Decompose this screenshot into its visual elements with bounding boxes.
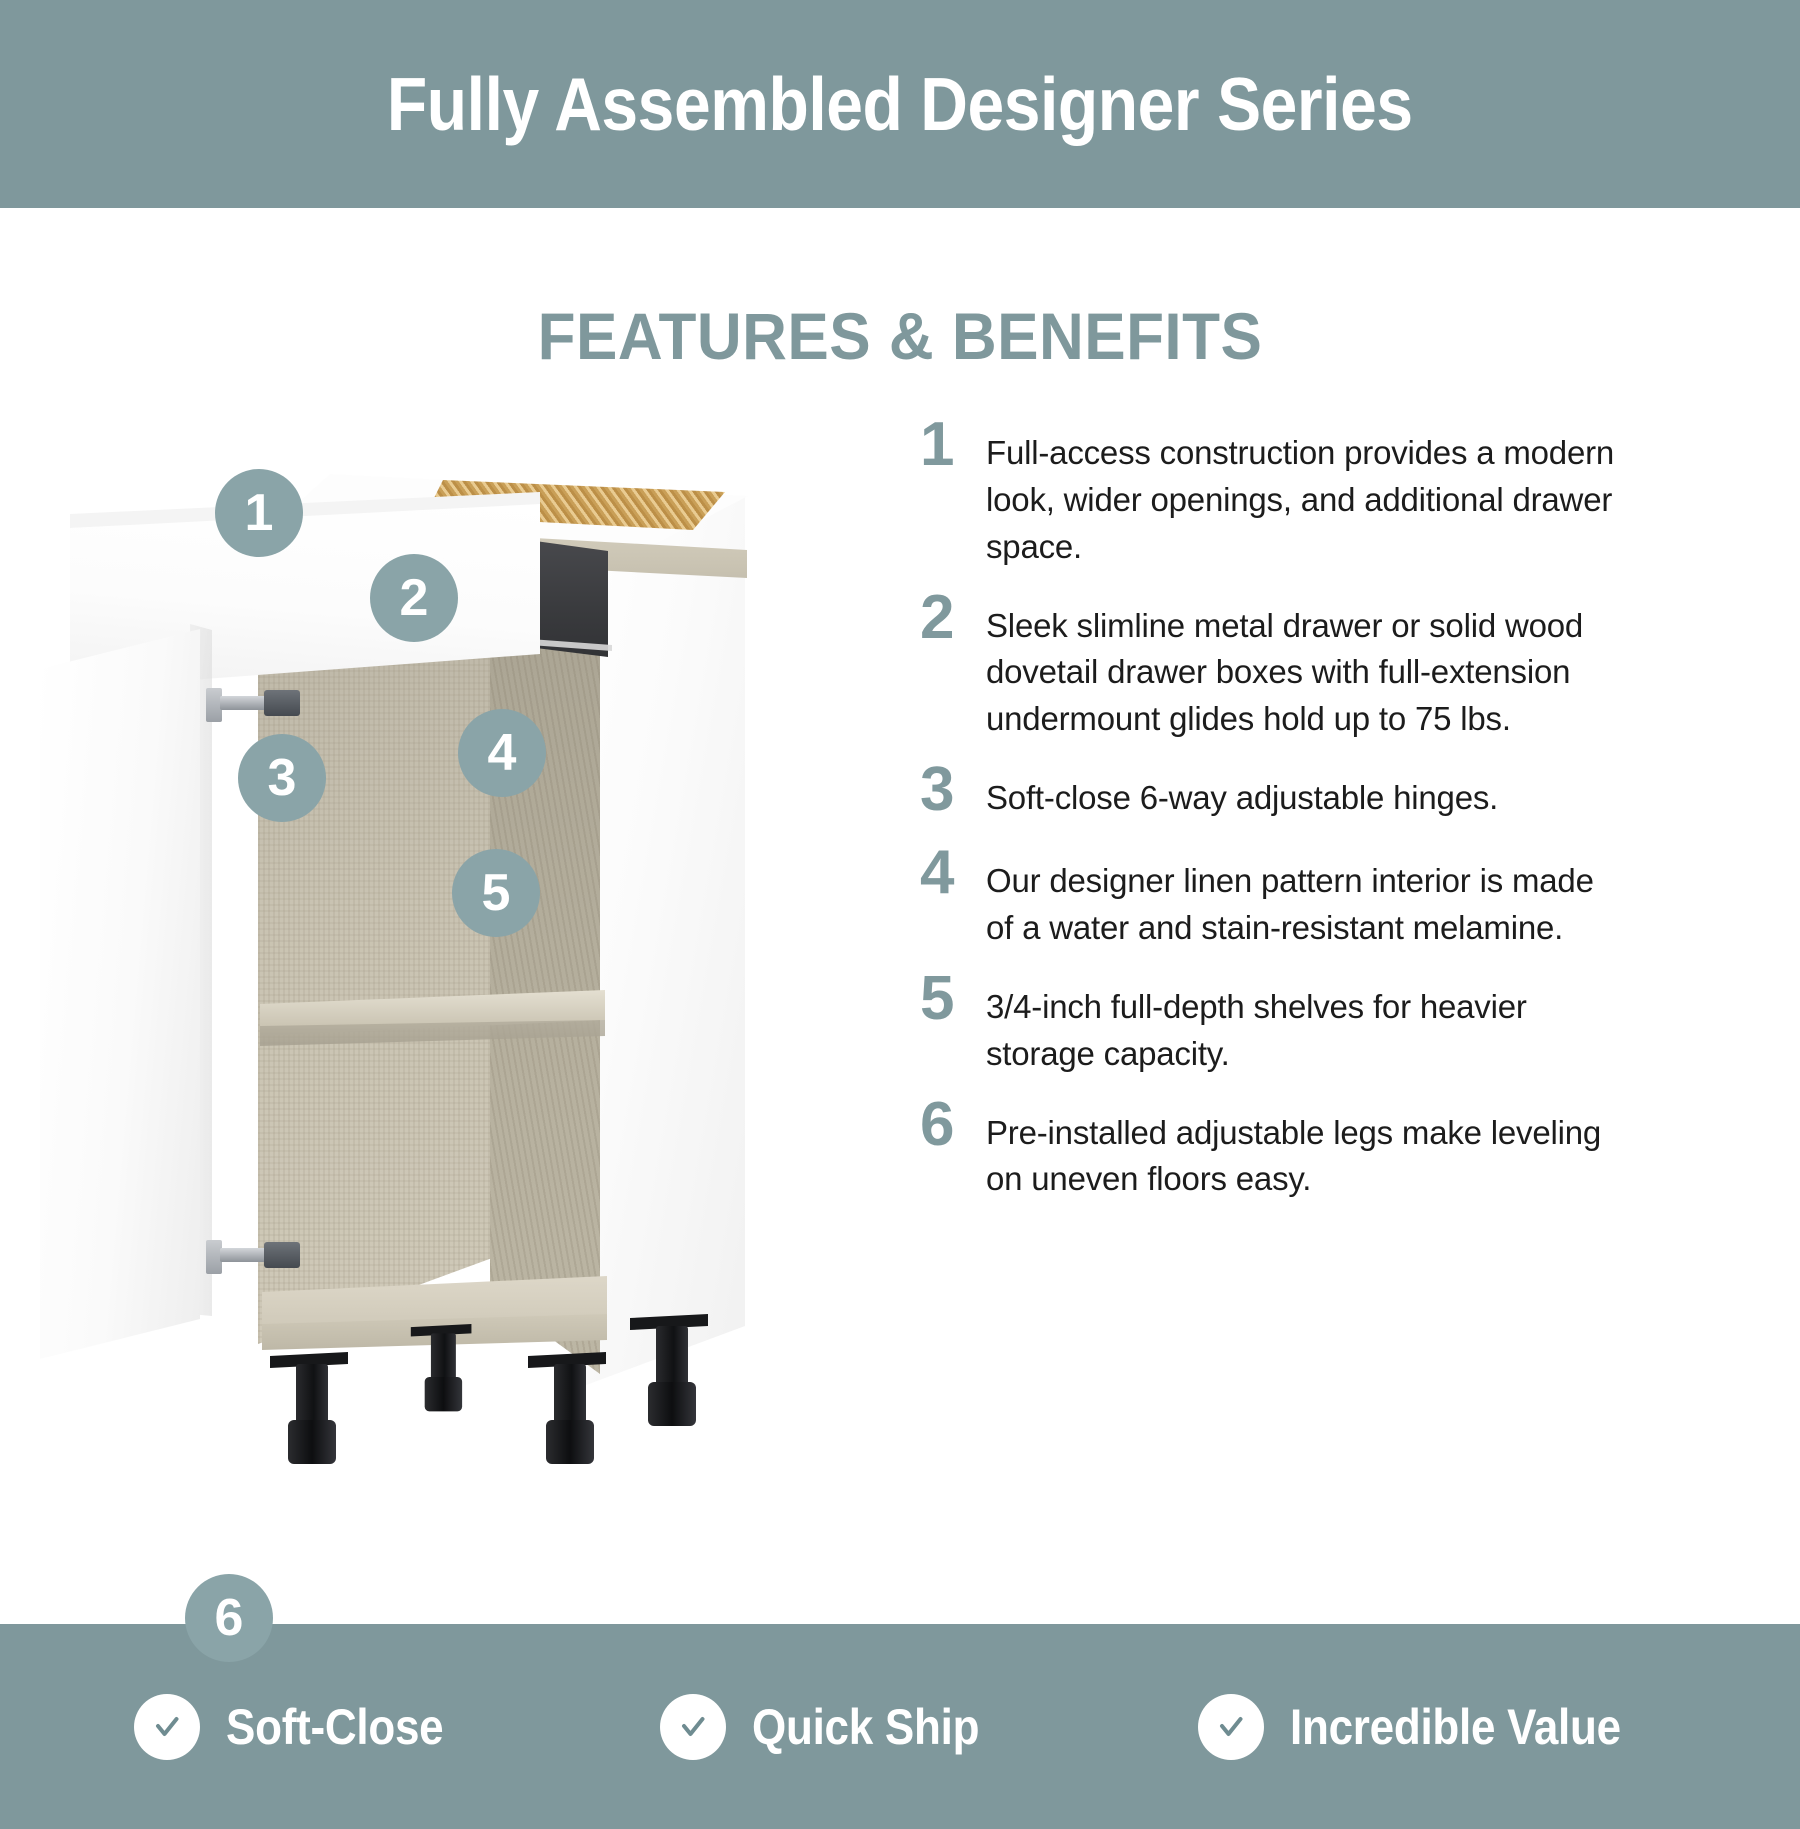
soft-close-hinge-top: [206, 682, 302, 724]
feature-number: 6: [920, 1096, 986, 1153]
feature-item-4: 4 Our designer linen pattern interior is…: [920, 852, 1750, 952]
feature-text: Full-access construction provides a mode…: [986, 424, 1626, 571]
feature-number: 2: [920, 589, 986, 646]
hinge-cup: [264, 1242, 300, 1268]
feature-text: 3/4-inch full-depth shelves for heavier …: [986, 978, 1626, 1078]
product-image-column: 1 2 3 4 5 6: [30, 394, 910, 1624]
cabinet-linen-side-panel: [490, 534, 600, 1374]
main-content: FEATURES & BENEFITS: [0, 208, 1800, 1624]
check-circle-icon: [134, 1694, 200, 1760]
leg-foot: [546, 1420, 594, 1464]
header-banner: Fully Assembled Designer Series: [0, 0, 1800, 208]
callout-badge-1: 1: [215, 469, 303, 557]
feature-number: 1: [920, 416, 986, 473]
page-title: Fully Assembled Designer Series: [387, 61, 1413, 147]
feature-text: Sleek slimline metal drawer or solid woo…: [986, 597, 1626, 744]
feature-text: Our designer linen pattern interior is m…: [986, 852, 1626, 952]
footer-item-quick-ship: Quick Ship: [660, 1694, 1010, 1760]
feature-item-2: 2 Sleek slimline metal drawer or solid w…: [920, 597, 1750, 744]
feature-item-6: 6 Pre-installed adjustable legs make lev…: [920, 1104, 1750, 1204]
feature-number: 5: [920, 970, 986, 1027]
footer-item-incredible-value: Incredible Value: [1198, 1694, 1666, 1760]
footer-banner: Soft-Close Quick Ship Incredible Value: [0, 1624, 1800, 1829]
cabinet-door: [40, 629, 200, 1359]
features-list: 1 Full-access construction provides a mo…: [910, 394, 1760, 1624]
callout-badge-6: 6: [185, 1574, 273, 1662]
feature-item-1: 1 Full-access construction provides a mo…: [920, 424, 1750, 571]
leg-foot: [288, 1420, 336, 1464]
leg-foot: [425, 1377, 462, 1411]
leg-foot: [648, 1382, 696, 1426]
footer-item-label: Incredible Value: [1290, 1698, 1621, 1756]
feature-number: 4: [920, 844, 986, 901]
features-layout: 1 2 3 4 5 6 1 Full-access construction p…: [0, 394, 1800, 1624]
check-circle-icon: [660, 1694, 726, 1760]
footer-item-label: Quick Ship: [752, 1698, 979, 1756]
footer-item-soft-close: Soft-Close: [134, 1694, 473, 1760]
cabinet-linen-back-panel: [258, 554, 503, 1344]
callout-badge-4: 4: [458, 709, 546, 797]
check-circle-icon: [1198, 1694, 1264, 1760]
feature-text: Soft-close 6-way adjustable hinges.: [986, 769, 1626, 822]
hinge-cup: [264, 690, 300, 716]
footer-item-label: Soft-Close: [226, 1698, 443, 1756]
cabinet-illustration: 1 2 3 4 5 6: [30, 434, 910, 1484]
product-feature-infographic: Fully Assembled Designer Series FEATURES…: [0, 0, 1800, 1800]
feature-item-3: 3 Soft-close 6-way adjustable hinges.: [920, 769, 1750, 826]
feature-item-5: 5 3/4-inch full-depth shelves for heavie…: [920, 978, 1750, 1078]
feature-number: 3: [920, 761, 986, 818]
section-title: FEATURES & BENEFITS: [54, 298, 1746, 374]
callout-badge-5: 5: [452, 849, 540, 937]
callout-badge-3: 3: [238, 734, 326, 822]
soft-close-hinge-bottom: [206, 1234, 302, 1276]
callout-badge-2: 2: [370, 554, 458, 642]
feature-text: Pre-installed adjustable legs make level…: [986, 1104, 1626, 1204]
